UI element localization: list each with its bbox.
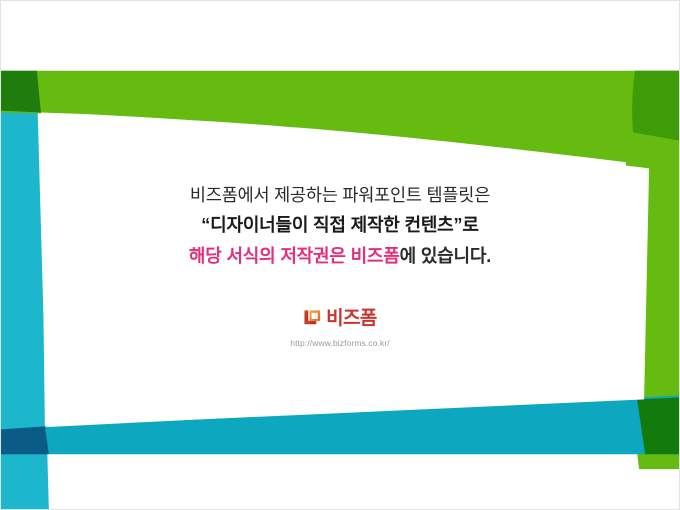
green-right-band: [623, 71, 679, 469]
green-overlap-topright: [632, 71, 679, 141]
green-top-band: [1, 71, 679, 169]
message-line-3-tail: 에 있습니다.: [400, 246, 491, 266]
message-line-3-highlight: 해당 서식의 저작권은 비즈폼: [189, 246, 400, 266]
logo-wordmark: 비즈폼: [326, 309, 377, 328]
teal-cyan-overlap-bottomleft: [1, 426, 49, 454]
message-line-2: “디자이너들이 직접 제작한 컨텐츠”로: [1, 212, 679, 238]
message-line-3: 해당 서식의 저작권은 비즈폼에 있습니다.: [1, 243, 679, 269]
slide-canvas: 비즈폼에서 제공하는 파워포인트 템플릿은 “디자이너들이 직접 제작한 컨텐츠…: [0, 0, 680, 510]
logo-block: 비즈폼 http://www.bizforms.co.kr/: [1, 307, 679, 348]
green-cyan-overlap-topleft: [1, 71, 41, 113]
logo-url[interactable]: http://www.bizforms.co.kr/: [1, 338, 679, 348]
bizforms-logo-mark-icon: [303, 309, 322, 328]
logo-row: 비즈폼: [303, 307, 377, 329]
cyan-left-band: [1, 84, 49, 509]
message-line-1: 비즈폼에서 제공하는 파워포인트 템플릿은: [1, 183, 679, 208]
green-teal-overlap-bottomright: [637, 397, 679, 454]
teal-bottom-band: [1, 395, 679, 454]
message-block: 비즈폼에서 제공하는 파워포인트 템플릿은 “디자이너들이 직접 제작한 컨텐츠…: [1, 183, 679, 270]
